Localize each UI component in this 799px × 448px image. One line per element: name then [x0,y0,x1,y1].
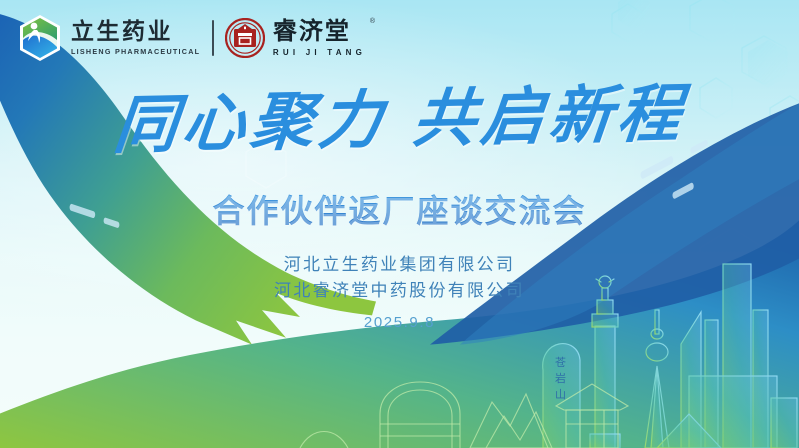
organizer-line-1: 河北立生药业集团有限公司 [0,252,799,278]
mountain-label-char-1: 苍 [555,356,567,369]
registered-mark: ® [370,18,375,25]
ruijitang-name-en: RUI JI TANG [273,48,366,57]
main-title-wrap: 同心聚力共启新程 [0,88,799,151]
mountain-label: 苍 岩 山 [555,356,567,401]
main-title-part1: 同心聚力 [110,82,390,162]
main-title: 同心聚力共启新程 [111,82,689,157]
mountain-label-char-3: 山 [555,388,567,401]
lisheng-name-cn: 立生药业 [71,20,200,44]
organizer-list: 河北立生药业集团有限公司 河北睿济堂中药股份有限公司 [0,252,799,305]
main-title-part2: 共启新程 [409,76,689,156]
event-date: 2025.9.8 [0,314,799,331]
hexagon-leaf-logo-icon [18,14,62,62]
ruijitang-brand-text: 睿济堂 RUI JI TANG ® [273,19,366,56]
organizer-line-2: 河北睿济堂中药股份有限公司 [0,278,799,304]
event-subtitle: 合作伙伴返厂座谈交流会 [0,186,799,232]
round-seal-logo-icon [225,18,265,58]
lisheng-brand-text: 立生药业 LISHENG PHARMACEUTICAL [71,20,200,56]
brand-divider [212,20,214,56]
lisheng-name-en: LISHENG PHARMACEUTICAL [71,47,200,56]
header-logo-bar: 立生药业 LISHENG PHARMACEUTICAL 睿济堂 RUI JI T… [18,16,366,60]
ruijitang-name-cn: 睿济堂 [273,19,366,44]
mountain-label-char-2: 岩 [555,371,567,385]
poster-canvas: 苍 岩 山 [0,0,799,448]
